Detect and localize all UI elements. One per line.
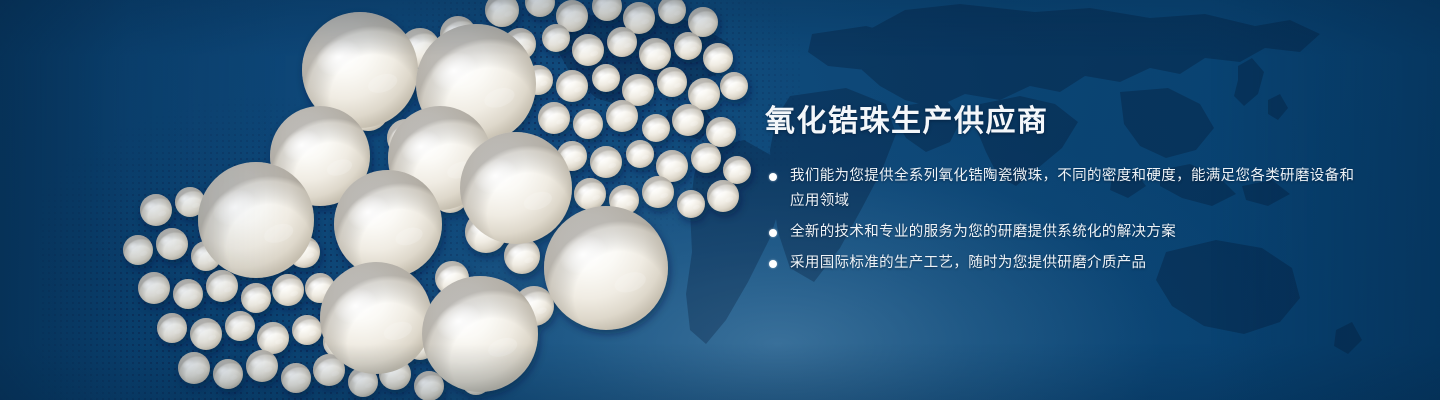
bullet-dot-icon [769,229,777,237]
zirconia-beads-photo [120,0,760,400]
list-item: 我们能为您提供全系列氧化锆陶瓷微珠，不同的密度和硬度，能满足您各类研磨设备和应用… [765,164,1365,214]
bullet-text: 全新的技术和专业的服务为您的研磨提供系统化的解决方案 [790,224,1176,240]
page-title: 氧化锆珠生产供应商 [765,104,1365,140]
bullet-dot-icon [769,260,777,268]
bullet-dot-icon [769,173,777,181]
banner-copy: 氧化锆珠生产供应商 我们能为您提供全系列氧化锆陶瓷微珠，不同的密度和硬度，能满足… [765,104,1365,276]
list-item: 采用国际标准的生产工艺，随时为您提供研磨介质产品 [765,251,1365,276]
feature-bullet-list: 我们能为您提供全系列氧化锆陶瓷微珠，不同的密度和硬度，能满足您各类研磨设备和应用… [765,164,1365,276]
list-item: 全新的技术和专业的服务为您的研磨提供系统化的解决方案 [765,220,1365,245]
hero-banner: 氧化锆珠生产供应商 我们能为您提供全系列氧化锆陶瓷微珠，不同的密度和硬度，能满足… [0,0,1440,400]
bullet-text: 我们能为您提供全系列氧化锆陶瓷微珠，不同的密度和硬度，能满足您各类研磨设备和应用… [790,168,1354,209]
bullet-text: 采用国际标准的生产工艺，随时为您提供研磨介质产品 [790,255,1146,271]
